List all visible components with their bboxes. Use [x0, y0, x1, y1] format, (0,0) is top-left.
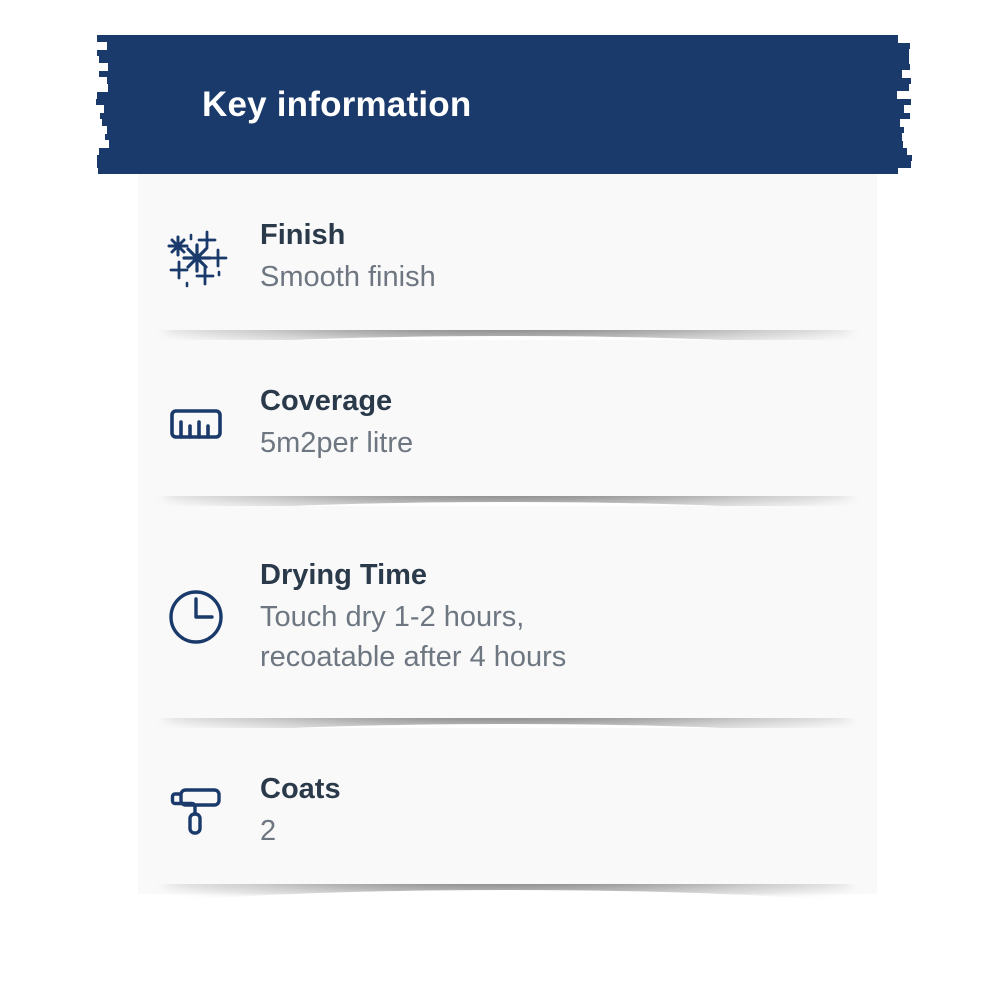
- clock-icon: [164, 585, 260, 649]
- list-item[interactable]: Drying Time Touch dry 1-2 hours, recoata…: [138, 506, 877, 728]
- value-line: recoatable after 4 hours: [260, 638, 566, 677]
- list-item-value: Smooth finish: [260, 258, 436, 297]
- list-item-value: Touch dry 1-2 hours, recoatable after 4 …: [260, 598, 566, 677]
- list-item-label: Coverage: [260, 383, 413, 420]
- key-information-panel: Key information: [0, 0, 1000, 1000]
- list-item[interactable]: Coats 2: [138, 728, 877, 894]
- value-line: 2: [260, 812, 341, 851]
- card-curl-shadow: [132, 884, 883, 914]
- list-item-label: Finish: [260, 217, 436, 254]
- key-information-list: Finish Smooth finish Coverage: [138, 174, 877, 894]
- ruler-icon: [164, 391, 260, 455]
- list-item[interactable]: Coverage 5m2per litre: [138, 340, 877, 506]
- value-line: 5m2per litre: [260, 424, 413, 463]
- key-information-header: Key information: [95, 35, 915, 174]
- list-item[interactable]: Finish Smooth finish: [138, 174, 877, 340]
- value-line: Smooth finish: [260, 258, 436, 297]
- page-title: Key information: [202, 35, 471, 174]
- list-item-text: Drying Time Touch dry 1-2 hours, recoata…: [260, 557, 566, 677]
- list-item-value: 2: [260, 812, 341, 851]
- list-item-text: Coverage 5m2per litre: [260, 383, 413, 464]
- value-line: Touch dry 1-2 hours,: [260, 598, 566, 637]
- list-item-text: Coats 2: [260, 771, 341, 852]
- list-item-value: 5m2per litre: [260, 424, 413, 463]
- list-item-label: Coats: [260, 771, 341, 808]
- paint-roller-icon: [164, 779, 260, 843]
- list-item-label: Drying Time: [260, 557, 566, 594]
- sparkle-snowflake-icon: [164, 225, 260, 289]
- list-item-text: Finish Smooth finish: [260, 217, 436, 298]
